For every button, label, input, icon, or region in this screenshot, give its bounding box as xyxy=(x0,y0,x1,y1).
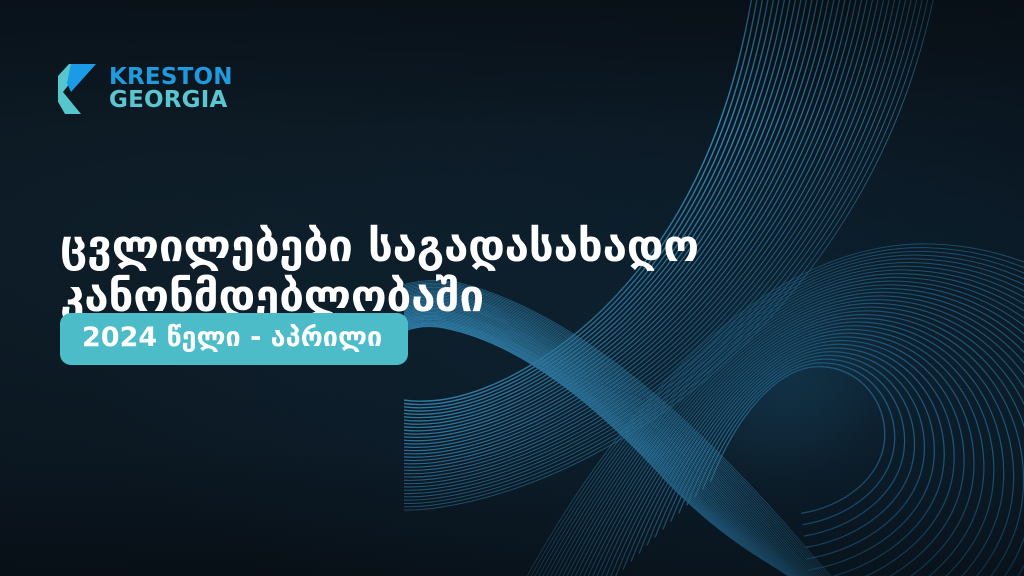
logo-wordmark: KRESTON GEORGIA xyxy=(109,66,233,112)
slide-title-line-1: ცვლილებები საგადასახადო xyxy=(60,222,800,271)
slide-title: ცვლილებები საგადასახადო კანონმდებლობაში xyxy=(60,222,800,321)
logo-word-georgia: GEORGIA xyxy=(109,89,233,112)
kreston-k-mark-icon xyxy=(58,62,98,116)
presentation-slide: KRESTON GEORGIA ცვლილებები საგადასახადო … xyxy=(0,0,1024,576)
logo-word-kreston: KRESTON xyxy=(109,66,233,89)
date-badge: 2024 წელი - აპრილი xyxy=(60,313,408,365)
kreston-georgia-logo[interactable]: KRESTON GEORGIA xyxy=(58,62,233,116)
